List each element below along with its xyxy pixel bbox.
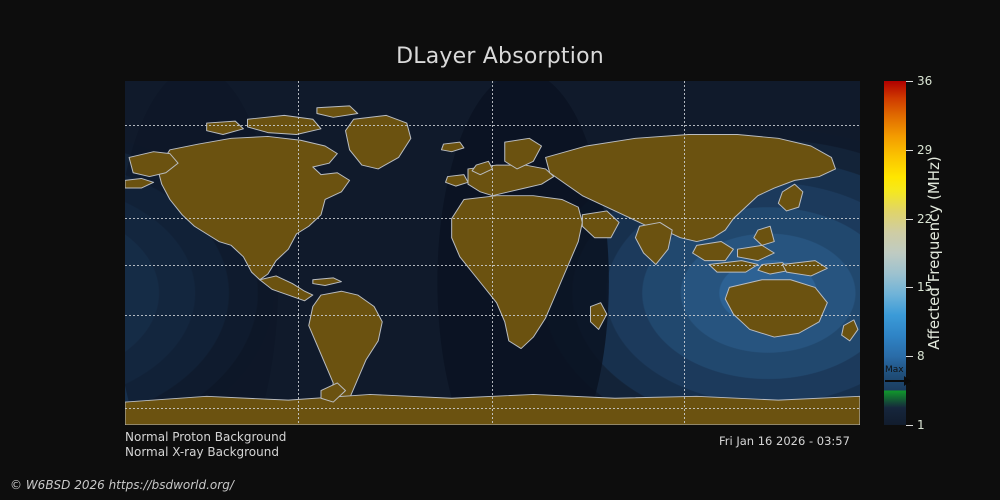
gridline-lon-90e [684,81,685,425]
proton-background-note: Normal Proton Background [125,430,286,444]
colorbar-tick-22 [906,219,913,220]
max-marker-label: Max [885,365,904,375]
colorbar-axis-label: Affected Frequency (MHz) [922,81,946,425]
gridline-lon-0 [492,81,493,425]
gridline-lon-90w [298,81,299,425]
max-marker-arrow-head [904,376,911,386]
xray-background-note: Normal X-ray Background [125,445,279,459]
colorbar-tick-15 [906,287,913,288]
colorbar-tick-1 [906,425,913,426]
page-title: DLayer Absorption [0,44,1000,69]
timestamp: Fri Jan 16 2026 - 03:57 [719,434,850,448]
colorbar-tick-36 [906,81,913,82]
max-marker-arrow-line [885,380,906,382]
copyright-credit: © W6BSD 2026 https://bsdworld.org/ [10,478,234,492]
dlayer-absorption-figure: DLayer Absorption [0,0,1000,500]
colorbar-tick-29 [906,150,913,151]
colorbar-tick-8 [906,356,913,357]
max-marker: Max [884,365,924,389]
world-map[interactable] [125,81,860,425]
colorbar-axis-label-text: Affected Frequency (MHz) [925,156,943,350]
